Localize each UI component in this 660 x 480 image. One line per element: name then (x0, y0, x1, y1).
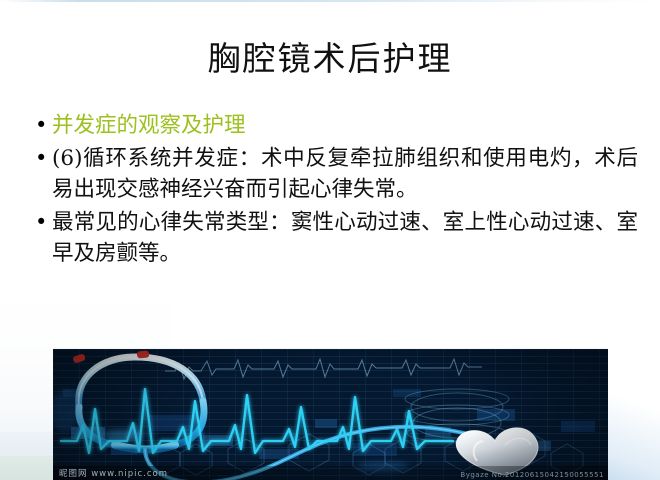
bullet-item-1: • 并发症的观察及护理 (30, 110, 638, 141)
bullet-text-2: (6)循环系统并发症：术中反复牵拉肺组织和使用电灼，术后易出现交感神经兴奋而引起… (52, 143, 638, 205)
image-watermark-left: 昵图网 www.nipic.com (59, 467, 168, 479)
image-watermark-right: Bygaze No.20120615042150055551 (460, 471, 604, 479)
bullet-item-2: • (6)循环系统并发症：术中反复牵拉肺组织和使用电灼，术后易出现交感神经兴奋而… (30, 143, 638, 205)
bullet-item-3: • 最常见的心律失常类型：窦性心动过速、室上性心动过速、室早及房颤等。 (30, 207, 638, 269)
slide-top-rule (0, 0, 660, 2)
slide-body-list: • 并发症的观察及护理 • (6)循环系统并发症：术中反复牵拉肺组织和使用电灼，… (30, 110, 638, 271)
bullet-marker-icon: • (30, 207, 52, 238)
slide-title: 胸腔镜术后护理 (0, 36, 660, 82)
presentation-slide: 胸腔镜术后护理 • 并发症的观察及护理 • (6)循环系统并发症：术中反复牵拉肺… (0, 0, 660, 480)
bullet-text-1: 并发症的观察及护理 (52, 110, 638, 141)
bullet-marker-icon: • (30, 110, 52, 141)
bullet-text-3: 最常见的心律失常类型：窦性心动过速、室上性心动过速、室早及房颤等。 (52, 207, 638, 269)
image-vignette (53, 349, 608, 480)
bullet-marker-icon: • (30, 143, 52, 174)
slide-image-stethoscope-ecg: 昵图网 www.nipic.com Bygaze No.201206150421… (53, 348, 608, 480)
